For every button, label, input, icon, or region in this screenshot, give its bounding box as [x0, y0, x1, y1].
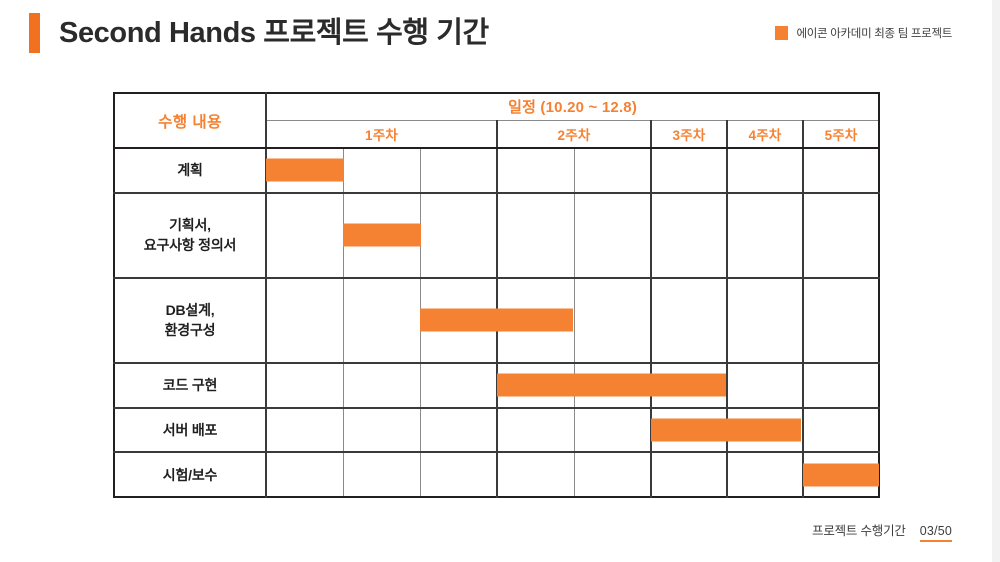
task-label-3: 코드 구현	[114, 363, 266, 408]
gantt-bar-2	[420, 309, 573, 332]
slot-2-6	[651, 278, 727, 363]
slot-2-1	[266, 278, 343, 363]
slot-2-3	[420, 278, 497, 363]
slot-1-1	[266, 193, 343, 278]
slot-3-7	[727, 363, 803, 408]
slot-5-7	[727, 452, 803, 497]
gantt-bar-0	[266, 159, 344, 182]
week-header-1: 1주차	[266, 120, 497, 148]
task-label-text: 서버 배포	[163, 422, 217, 438]
legend-swatch-icon	[775, 26, 788, 40]
slot-1-2	[343, 193, 420, 278]
table-row: 서버 배포	[114, 408, 879, 453]
week-header-4: 4주차	[727, 120, 803, 148]
task-label-text: DB설계, 환경구성	[165, 302, 216, 338]
task-label-1: 기획서, 요구사항 정의서	[114, 193, 266, 278]
slot-0-5	[574, 148, 651, 193]
slot-2-2	[343, 278, 420, 363]
slot-3-4	[497, 363, 574, 408]
task-label-text: 기획서, 요구사항 정의서	[144, 217, 236, 253]
legend-label: 에이콘 아카데미 최종 팀 프로젝트	[797, 25, 953, 41]
slot-1-8	[803, 193, 879, 278]
gantt-bar-5	[803, 463, 879, 486]
slide: Second Hands 프로젝트 수행 기간 에이콘 아카데미 최종 팀 프로…	[0, 0, 992, 562]
slide-header: Second Hands 프로젝트 수행 기간 에이콘 아카데미 최종 팀 프로…	[0, 0, 992, 72]
task-column-header: 수행 내용	[114, 93, 266, 148]
week-header-2: 2주차	[497, 120, 651, 148]
table-row: 기획서, 요구사항 정의서	[114, 193, 879, 278]
slot-1-6	[651, 193, 727, 278]
slot-0-1	[266, 148, 343, 193]
task-label-text: 코드 구현	[163, 377, 217, 393]
slot-1-4	[497, 193, 574, 278]
gantt-table: 수행 내용 일정 (10.20 ~ 12.8) 1주차 2주차 3주차 4주차 …	[113, 92, 880, 498]
slot-1-3	[420, 193, 497, 278]
slot-2-5	[574, 278, 651, 363]
slot-1-5	[574, 193, 651, 278]
task-label-0: 계획	[114, 148, 266, 193]
table-row: 계획	[114, 148, 879, 193]
slot-5-2	[343, 452, 420, 497]
slot-4-6	[651, 408, 727, 453]
gantt-bar-1	[343, 224, 421, 247]
title-accent-bar	[29, 13, 40, 53]
slot-5-8	[803, 452, 879, 497]
slot-2-8	[803, 278, 879, 363]
task-label-2: DB설계, 환경구성	[114, 278, 266, 363]
table-header-row-top: 수행 내용 일정 (10.20 ~ 12.8)	[114, 93, 879, 120]
gantt-bar-3	[497, 374, 726, 397]
slot-4-4	[497, 408, 574, 453]
slot-3-1	[266, 363, 343, 408]
slot-0-2	[343, 148, 420, 193]
page-number: 03/50	[920, 524, 952, 542]
gantt-chart: 수행 내용 일정 (10.20 ~ 12.8) 1주차 2주차 3주차 4주차 …	[113, 92, 880, 498]
task-label-text: 계획	[177, 162, 202, 178]
week-header-3: 3주차	[651, 120, 727, 148]
table-row: 코드 구현	[114, 363, 879, 408]
footer-label: 프로젝트 수행기간	[812, 520, 906, 539]
slot-3-3	[420, 363, 497, 408]
slide-footer: 프로젝트 수행기간 03/50	[812, 520, 952, 542]
task-label-4: 서버 배포	[114, 408, 266, 453]
slot-5-4	[497, 452, 574, 497]
gantt-bar-4	[651, 419, 801, 442]
slot-0-7	[727, 148, 803, 193]
page-title: Second Hands 프로젝트 수행 기간	[59, 11, 489, 55]
slot-5-5	[574, 452, 651, 497]
slot-3-2	[343, 363, 420, 408]
legend: 에이콘 아카데미 최종 팀 프로젝트	[775, 24, 953, 42]
table-row: DB설계, 환경구성	[114, 278, 879, 363]
slot-5-6	[651, 452, 727, 497]
task-label-5: 시험/보수	[114, 452, 266, 497]
slot-4-8	[803, 408, 879, 453]
gantt-body: 계획 기획서, 요구사항 정의서	[114, 148, 879, 497]
schedule-header: 일정 (10.20 ~ 12.8)	[266, 93, 879, 120]
slot-2-7	[727, 278, 803, 363]
slot-4-1	[266, 408, 343, 453]
week-header-5: 5주차	[803, 120, 879, 148]
slot-3-8	[803, 363, 879, 408]
slot-4-3	[420, 408, 497, 453]
slot-0-6	[651, 148, 727, 193]
slot-0-4	[497, 148, 574, 193]
task-label-text: 시험/보수	[163, 467, 217, 483]
slot-4-2	[343, 408, 420, 453]
slot-0-3	[420, 148, 497, 193]
table-row: 시험/보수	[114, 452, 879, 497]
slot-5-3	[420, 452, 497, 497]
slot-1-7	[727, 193, 803, 278]
slot-0-8	[803, 148, 879, 193]
slot-4-5	[574, 408, 651, 453]
slot-5-1	[266, 452, 343, 497]
